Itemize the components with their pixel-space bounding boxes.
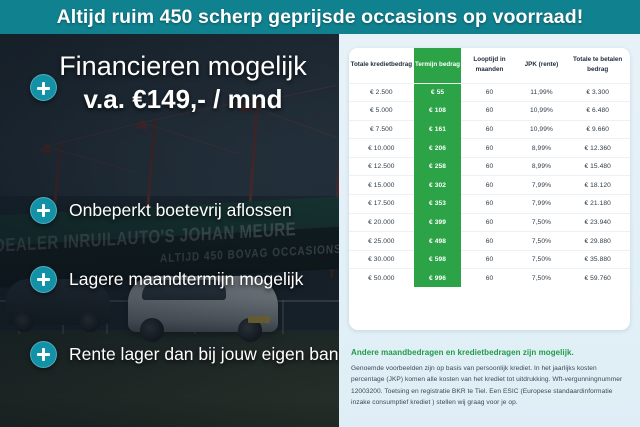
cell-looptijd: 60 bbox=[461, 176, 517, 195]
cell-jkp: 7,50% bbox=[518, 269, 566, 287]
cell-jkp: 7,50% bbox=[518, 250, 566, 269]
bullet-item-1: Onbeperkt boetevrij aflossen bbox=[30, 197, 350, 224]
cell-looptijd: 60 bbox=[461, 102, 517, 121]
cell-jkp: 7,50% bbox=[518, 232, 566, 251]
cell-krediet: € 10.000 bbox=[349, 139, 414, 158]
left-content-column: Financieren mogelijk v.a. €149,- / mnd O… bbox=[0, 34, 350, 427]
cell-jkp: 7,50% bbox=[518, 213, 566, 232]
bullet-label: Rente lager dan bij jouw eigen bank bbox=[69, 344, 347, 365]
cell-termijn: € 498 bbox=[414, 232, 462, 251]
cell-krediet: € 2.500 bbox=[349, 83, 414, 102]
col-header-krediet: Totale kredietbedrag bbox=[349, 48, 414, 83]
cell-krediet: € 20.000 bbox=[349, 213, 414, 232]
cell-termijn: € 399 bbox=[414, 213, 462, 232]
top-banner: Altijd ruim 450 scherp geprijsde occasio… bbox=[0, 0, 640, 34]
rate-table-body: € 2.500€ 556011,99%€ 3.300€ 5.000€ 10860… bbox=[349, 83, 630, 287]
top-banner-text: Altijd ruim 450 scherp geprijsde occasio… bbox=[57, 6, 584, 29]
headline-line-1: Financieren mogelijk bbox=[28, 52, 338, 81]
cell-totaal: € 3.300 bbox=[565, 83, 630, 102]
cell-looptijd: 60 bbox=[461, 139, 517, 158]
cell-totaal: € 18.120 bbox=[565, 176, 630, 195]
cell-krediet: € 30.000 bbox=[349, 250, 414, 269]
cell-jkp: 10,99% bbox=[518, 102, 566, 121]
col-header-termijn: Termijn bedrag bbox=[414, 48, 462, 83]
cell-krediet: € 5.000 bbox=[349, 102, 414, 121]
table-row: € 7.500€ 1616010,99%€ 9.660 bbox=[349, 120, 630, 139]
cell-krediet: € 12.500 bbox=[349, 157, 414, 176]
bullet-item-3: Rente lager dan bij jouw eigen bank bbox=[30, 341, 350, 368]
plus-icon bbox=[30, 266, 57, 293]
rate-table-card: Totale kredietbedrag Termijn bedrag Loop… bbox=[349, 48, 630, 330]
cell-totaal: € 29.880 bbox=[565, 232, 630, 251]
cell-looptijd: 60 bbox=[461, 157, 517, 176]
rate-table: Totale kredietbedrag Termijn bedrag Loop… bbox=[349, 48, 630, 287]
cell-totaal: € 35.880 bbox=[565, 250, 630, 269]
cell-totaal: € 23.940 bbox=[565, 213, 630, 232]
table-row: € 12.500€ 258608,99%€ 15.480 bbox=[349, 157, 630, 176]
cell-krediet: € 25.000 bbox=[349, 232, 414, 251]
cell-termijn: € 108 bbox=[414, 102, 462, 121]
cell-jkp: 10,99% bbox=[518, 120, 566, 139]
table-header-row: Totale kredietbedrag Termijn bedrag Loop… bbox=[349, 48, 630, 83]
disclaimer-block: Andere maandbedragen en kredietbedragen … bbox=[351, 348, 627, 408]
headline-line-2: v.a. €149,- / mnd bbox=[28, 84, 338, 115]
cell-krediet: € 50.000 bbox=[349, 269, 414, 287]
cell-looptijd: 60 bbox=[461, 120, 517, 139]
plus-icon bbox=[30, 197, 57, 224]
cell-jkp: 8,99% bbox=[518, 157, 566, 176]
cell-krediet: € 17.500 bbox=[349, 195, 414, 214]
cell-jkp: 7,99% bbox=[518, 176, 566, 195]
cell-looptijd: 60 bbox=[461, 232, 517, 251]
cell-looptijd: 60 bbox=[461, 250, 517, 269]
cell-looptijd: 60 bbox=[461, 269, 517, 287]
cell-totaal: € 15.480 bbox=[565, 157, 630, 176]
cell-totaal: € 21.180 bbox=[565, 195, 630, 214]
headline-block: Financieren mogelijk v.a. €149,- / mnd bbox=[28, 52, 338, 115]
bullet-label: Lagere maandtermijn mogelijk bbox=[69, 269, 303, 290]
col-header-jkp: JPK (rente) bbox=[518, 48, 566, 83]
cell-termijn: € 161 bbox=[414, 120, 462, 139]
cell-jkp: 8,99% bbox=[518, 139, 566, 158]
cell-looptijd: 60 bbox=[461, 213, 517, 232]
cell-totaal: € 59.760 bbox=[565, 269, 630, 287]
table-row: € 15.000€ 302607,99%€ 18.120 bbox=[349, 176, 630, 195]
col-header-totaal: Totale te betalen bedrag bbox=[565, 48, 630, 83]
bullet-item-2: Lagere maandtermijn mogelijk bbox=[30, 266, 350, 293]
cell-totaal: € 6.480 bbox=[565, 102, 630, 121]
plus-icon bbox=[30, 341, 57, 368]
col-header-looptijd: Looptijd in maanden bbox=[461, 48, 517, 83]
cell-krediet: € 15.000 bbox=[349, 176, 414, 195]
table-row: € 30.000€ 598607,50%€ 35.880 bbox=[349, 250, 630, 269]
table-row: € 20.000€ 399607,50%€ 23.940 bbox=[349, 213, 630, 232]
bullet-label: Onbeperkt boetevrij aflossen bbox=[69, 200, 292, 221]
table-row: € 2.500€ 556011,99%€ 3.300 bbox=[349, 83, 630, 102]
disclaimer-title: Andere maandbedragen en kredietbedragen … bbox=[351, 348, 627, 357]
cell-termijn: € 206 bbox=[414, 139, 462, 158]
cell-termijn: € 353 bbox=[414, 195, 462, 214]
table-row: € 17.500€ 353607,99%€ 21.180 bbox=[349, 195, 630, 214]
cell-jkp: 11,99% bbox=[518, 83, 566, 102]
cell-termijn: € 598 bbox=[414, 250, 462, 269]
cell-termijn: € 258 bbox=[414, 157, 462, 176]
disclaimer-body: Genoemde voorbeelden zijn op basis van p… bbox=[351, 363, 627, 408]
cell-jkp: 7,99% bbox=[518, 195, 566, 214]
finance-info-panel: Totale kredietbedrag Termijn bedrag Loop… bbox=[339, 34, 640, 427]
cell-totaal: € 9.660 bbox=[565, 120, 630, 139]
cell-termijn: € 996 bbox=[414, 269, 462, 287]
table-row: € 10.000€ 206608,99%€ 12.360 bbox=[349, 139, 630, 158]
table-row: € 50.000€ 996607,50%€ 59.760 bbox=[349, 269, 630, 287]
cell-termijn: € 302 bbox=[414, 176, 462, 195]
cell-termijn: € 55 bbox=[414, 83, 462, 102]
table-row: € 25.000€ 498607,50%€ 29.880 bbox=[349, 232, 630, 251]
cell-looptijd: 60 bbox=[461, 83, 517, 102]
cell-totaal: € 12.360 bbox=[565, 139, 630, 158]
cell-looptijd: 60 bbox=[461, 195, 517, 214]
promo-banner-image: DEALER INRUILAUTO'S JOHAN MEURE ALTIJD 4… bbox=[0, 0, 640, 427]
cell-krediet: € 7.500 bbox=[349, 120, 414, 139]
table-row: € 5.000€ 1086010,99%€ 6.480 bbox=[349, 102, 630, 121]
